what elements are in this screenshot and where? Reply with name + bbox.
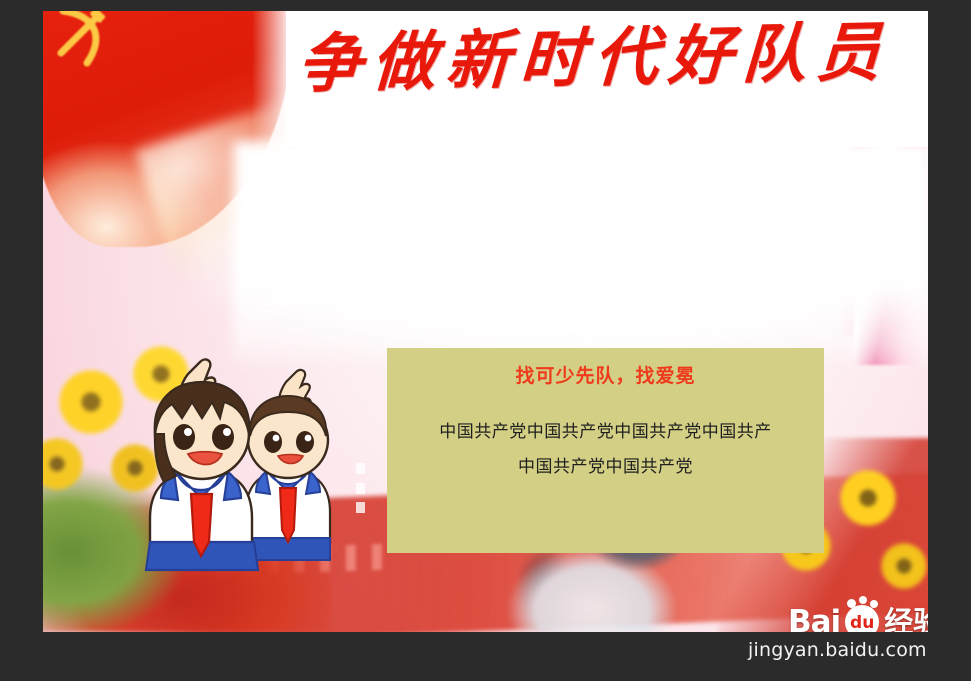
child-back xyxy=(246,370,330,560)
paw-toe xyxy=(859,596,867,604)
child-front xyxy=(146,360,258,570)
baidu-brand-jingyan: 经验 xyxy=(884,608,928,633)
content-background-glow xyxy=(193,161,928,361)
paw-toe xyxy=(870,600,878,608)
presentation-slide[interactable]: 争做新时代好队员 找可少先队，找爱冕 中国共产党中国共产党中国共产党中国共产 中… xyxy=(43,11,928,632)
content-textbox[interactable]: 找可少先队，找爱冕 中国共产党中国共产党中国共产党中国共产 中国共产党中国共产党 xyxy=(387,348,824,553)
baidu-brand-bai: Bai xyxy=(788,607,840,633)
baidu-brand-du: du xyxy=(850,613,874,632)
paw-toe xyxy=(847,599,856,608)
textbox-body: 中国共产党中国共产党中国共产党中国共产 中国共产党中国共产党 xyxy=(409,415,802,486)
textbox-heading: 找可少先队，找爱冕 xyxy=(409,364,802,389)
textbox-body-line-1: 中国共产党中国共产党中国共产党中国共产 xyxy=(409,415,802,451)
baidu-watermark-url: jingyan.baidu.com xyxy=(748,639,927,661)
young-pioneer-children-graphic xyxy=(128,342,358,577)
baidu-paw-icon: du xyxy=(845,605,879,632)
hammer-and-sickle-icon xyxy=(51,11,113,75)
screenshot-root: 争做新时代好队员 找可少先队，找爱冕 中国共产党中国共产党中国共产党中国共产 中… xyxy=(0,0,971,681)
page-title: 争做新时代好队员 xyxy=(292,21,896,98)
baidu-watermark-logo: Bai du 经验 xyxy=(788,603,928,632)
textbox-body-line-2: 中国共产党中国共产党 xyxy=(409,450,802,486)
